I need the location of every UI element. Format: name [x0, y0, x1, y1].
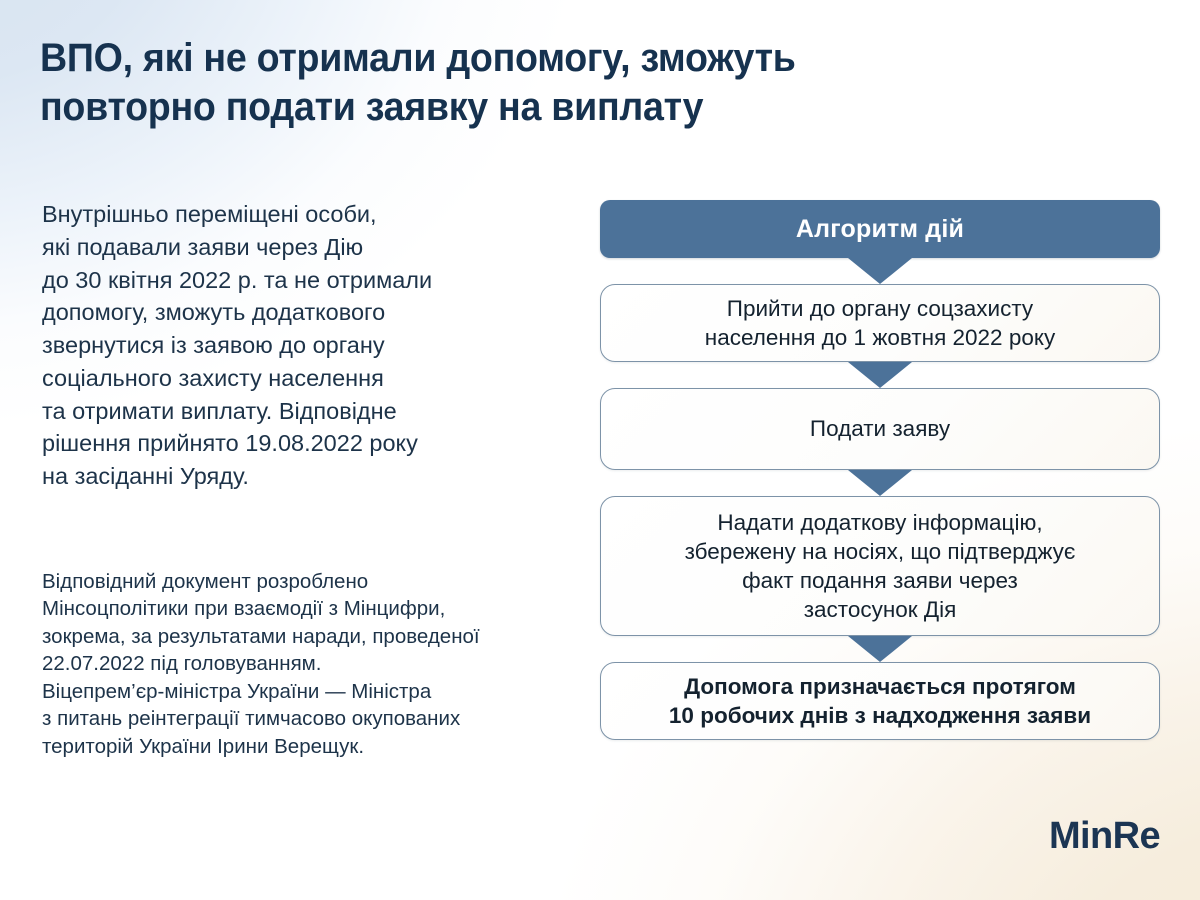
arrow-down-icon-3	[600, 470, 1160, 496]
flow-step-2: Подати заяву	[600, 388, 1160, 470]
arrow-down-icon-1	[600, 258, 1160, 284]
source-note-paragraph: Відповідний документ розроблено Мінсоцпо…	[42, 568, 612, 760]
page-title: ВПО, які не отримали допомогу, зможуть п…	[40, 34, 1065, 132]
arrow-down-icon-2	[600, 362, 1160, 388]
arrow-down-icon-4	[600, 636, 1160, 662]
algorithm-flowchart: Алгоритм дій Прийти до органу соцзахисту…	[600, 200, 1160, 740]
flow-step-1: Прийти до органу соцзахисту населення до…	[600, 284, 1160, 362]
minre-logo: MinRe	[1049, 815, 1160, 858]
infographic-canvas: ВПО, які не отримали допомогу, зможуть п…	[0, 0, 1200, 900]
flow-step-3: Надати додаткову інформацію, збережену н…	[600, 496, 1160, 636]
flow-step-4: Допомога призначається протягом 10 робоч…	[600, 662, 1160, 740]
flowchart-header: Алгоритм дій	[600, 200, 1160, 258]
intro-paragraph: Внутрішньо переміщені особи, які подавал…	[42, 198, 582, 493]
